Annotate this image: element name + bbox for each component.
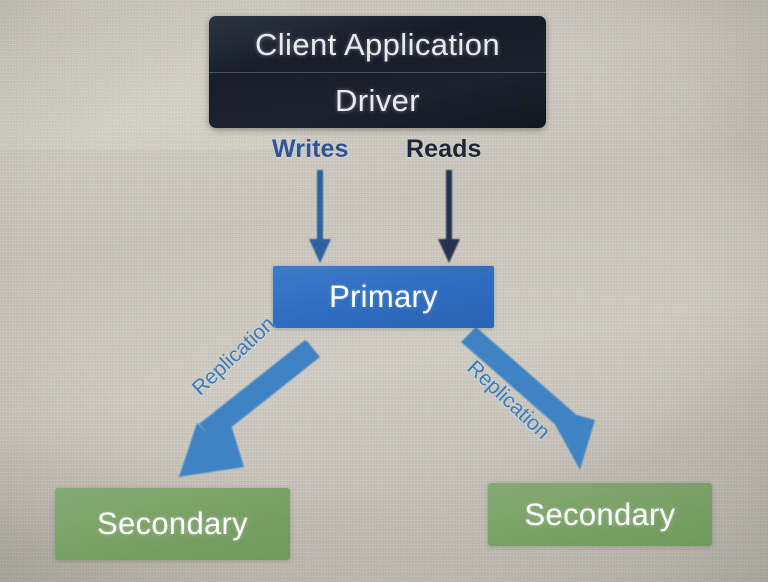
writes-edge-label: Writes [272,135,349,164]
driver-label: Driver [335,83,420,119]
driver-node[interactable]: Driver [209,73,546,128]
secondary-right-node[interactable]: Secondary [488,483,712,546]
client-application-label: Client Application [255,27,500,63]
primary-label: Primary [329,279,438,315]
secondary-left-label: Secondary [97,506,248,542]
reads-edge-label: Reads [406,135,482,164]
diagram-canvas: Client Application Driver Writes Reads P… [0,0,768,582]
client-application-node[interactable]: Client Application [209,16,546,73]
secondary-left-node[interactable]: Secondary [55,488,290,560]
client-application-driver-box[interactable]: Client Application Driver [209,16,546,128]
primary-node[interactable]: Primary [273,266,494,328]
secondary-right-label: Secondary [525,497,676,533]
